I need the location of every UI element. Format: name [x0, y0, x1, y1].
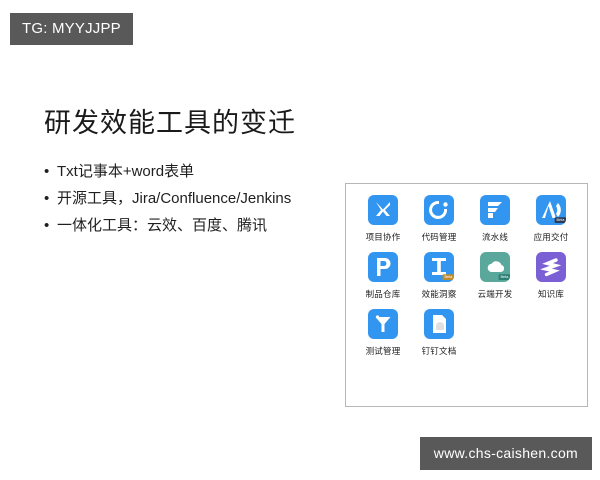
app-icon-cell[interactable]: 制品仓库	[355, 252, 411, 300]
icon-grid: 项目协作代码管理流水线Beta应用交付制品仓库Beta效能洞察Beta云端开发知…	[355, 195, 581, 366]
app-icon-label: 代码管理	[422, 231, 457, 243]
app-icon-label: 钉钉文档	[422, 345, 457, 357]
app-icon-label: 应用交付	[534, 231, 569, 243]
icon-panel: 项目协作代码管理流水线Beta应用交付制品仓库Beta效能洞察Beta云端开发知…	[345, 183, 588, 407]
app-icon-label: 制品仓库	[366, 288, 401, 300]
app-icon-cell[interactable]: 流水线	[467, 195, 523, 243]
document-icon[interactable]	[424, 309, 454, 339]
app-icon-label: 云端开发	[478, 288, 513, 300]
bullet-dot-icon: •	[44, 212, 49, 239]
bullet-dot-icon: •	[44, 185, 49, 212]
bullet-item: •Txt记事本+word表单	[44, 158, 291, 185]
app-icon-cell[interactable]: 知识库	[523, 252, 579, 300]
bullet-text: Txt记事本+word表单	[57, 163, 194, 180]
app-icon-cell[interactable]: 项目协作	[355, 195, 411, 243]
app-icon-cell[interactable]: Beta云端开发	[467, 252, 523, 300]
bullet-item: •开源工具，Jira/Confluence/Jenkins	[44, 185, 291, 212]
beta-badge: Beta	[498, 274, 510, 280]
beta-badge: Beta	[554, 217, 566, 223]
app-icon-cell[interactable]: 测试管理	[355, 309, 411, 357]
bullet-item: •一体化工具：云效、百度、腾讯	[44, 212, 291, 239]
app-icon-cell[interactable]: Beta应用交付	[523, 195, 579, 243]
bullet-dot-icon: •	[44, 158, 49, 185]
tg-watermark-badge: TG: MYYJJPP	[10, 13, 133, 45]
bullet-list: •Txt记事本+word表单•开源工具，Jira/Confluence/Jenk…	[44, 158, 291, 239]
i-insight-icon[interactable]: Beta	[424, 252, 454, 282]
app-icon-label: 项目协作	[366, 231, 401, 243]
x-cross-icon[interactable]	[368, 195, 398, 225]
site-watermark: www.chs-caishen.com	[420, 437, 592, 470]
app-icon-label: 知识库	[538, 288, 564, 300]
app-icon-cell[interactable]: 钉钉文档	[411, 309, 467, 357]
app-icon-cell[interactable]: Beta效能洞察	[411, 252, 467, 300]
beta-badge: Beta	[442, 274, 454, 280]
app-icon-label: 效能洞察	[422, 288, 457, 300]
c-circle-icon[interactable]	[424, 195, 454, 225]
cloud-dev-icon[interactable]: Beta	[480, 252, 510, 282]
f-pipeline-icon[interactable]	[480, 195, 510, 225]
a-delivery-icon[interactable]: Beta	[536, 195, 566, 225]
app-icon-label: 测试管理	[366, 345, 401, 357]
bullet-text: 一体化工具：云效、百度、腾讯	[57, 217, 267, 234]
bullet-text: 开源工具，Jira/Confluence/Jenkins	[57, 190, 291, 207]
s-knowledge-icon[interactable]	[536, 252, 566, 282]
app-icon-label: 流水线	[482, 231, 508, 243]
t-testing-icon[interactable]	[368, 309, 398, 339]
p-package-icon[interactable]	[368, 252, 398, 282]
page-title: 研发效能工具的变迁	[44, 101, 296, 140]
app-icon-cell[interactable]: 代码管理	[411, 195, 467, 243]
